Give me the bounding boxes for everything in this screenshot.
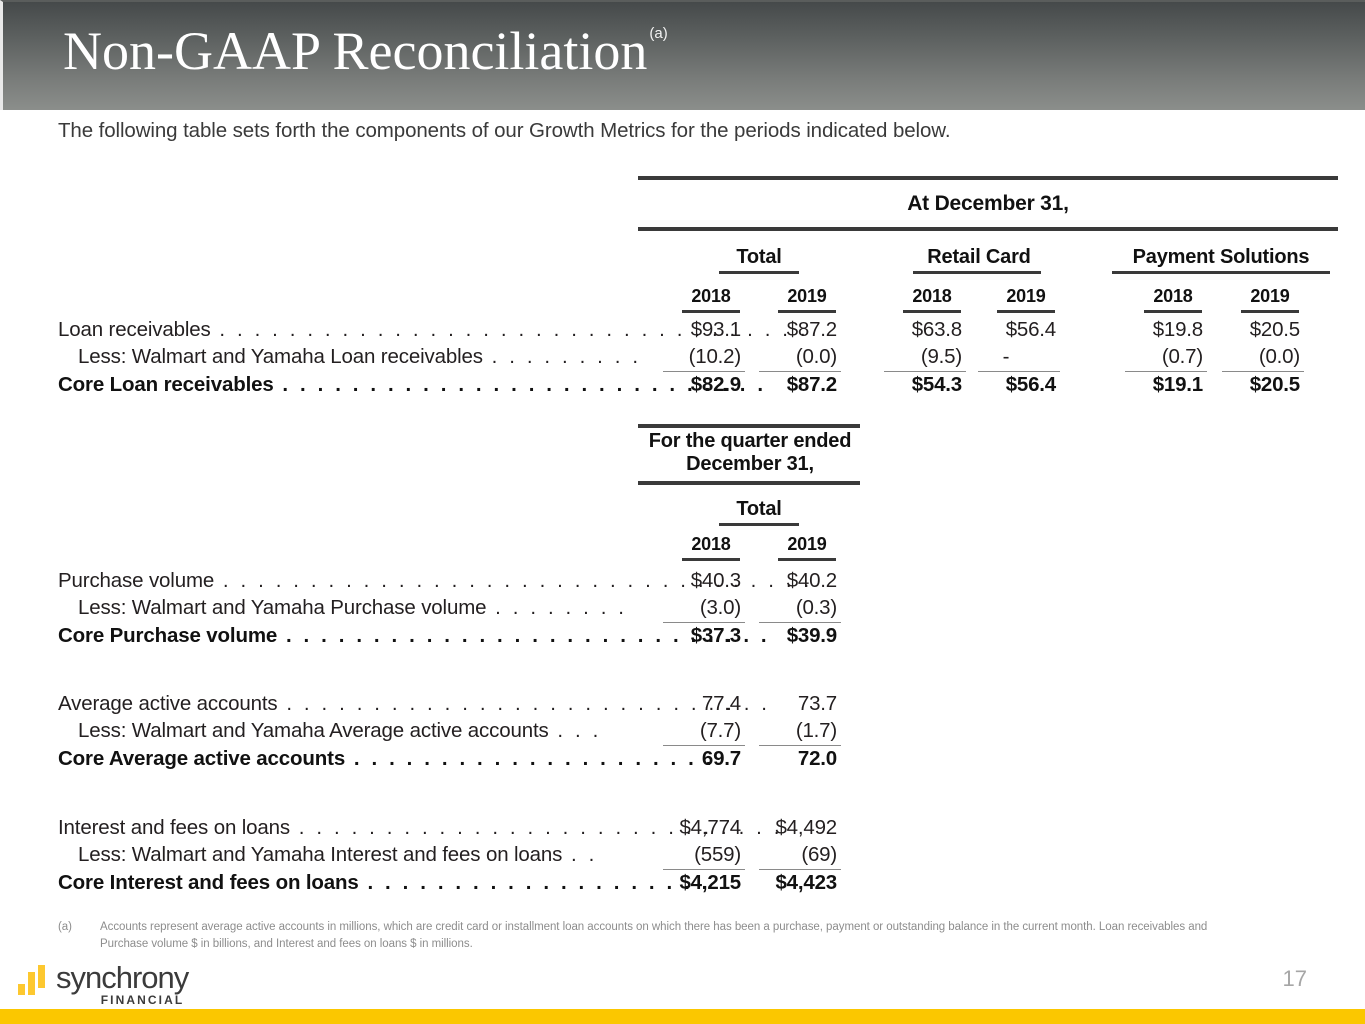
table1-cell-r1-c2: (9.5) bbox=[862, 345, 962, 369]
table1-cell-r2-c4: $19.1 bbox=[1103, 373, 1203, 397]
table2-cell-s0-r1-c1: (0.3) bbox=[737, 596, 837, 620]
table2-row-label-less-walmart-yamaha-interest-and-fees-on-loans: Less: Walmart and Yamaha Interest and fe… bbox=[58, 843, 597, 867]
logo-bar-tall bbox=[38, 965, 45, 988]
table2-cell-s1-r0-c0: 77.4 bbox=[641, 692, 741, 716]
table2-cell-s0-r2-c0: $37.3 bbox=[641, 624, 741, 648]
non-gaap-reconciliation-tables: At December 31, Total Retail Card Paymen… bbox=[0, 0, 1365, 1024]
table1-subtotal-rule-c4 bbox=[1125, 371, 1207, 372]
table2-year-total-2018-underline bbox=[682, 558, 740, 561]
table2-group-total-underline bbox=[719, 523, 799, 526]
table1-cell-r1-c4: (0.7) bbox=[1103, 345, 1203, 369]
table1-cell-r0-c3: $56.4 bbox=[956, 318, 1056, 342]
table2-cell-s2-r0-c1: $4,492 bbox=[737, 816, 837, 840]
synchrony-financial-logo: synchrony FINANCIAL bbox=[18, 962, 188, 1006]
table1-period-rule bbox=[638, 227, 1338, 231]
table2-row-label-less-walmart-yamaha-average-active-accounts: Less: Walmart and Yamaha Average active … bbox=[58, 719, 601, 743]
table2-cell-s2-r1-c0: (559) bbox=[641, 843, 741, 867]
table1-cell-r1-c0: (10.2) bbox=[641, 345, 741, 369]
dot-leader: . . . bbox=[549, 719, 602, 742]
table2-year-total-2019: 2019 bbox=[757, 534, 857, 555]
table1-year-payment-2019-underline bbox=[1241, 310, 1299, 313]
table1-year-total-2019: 2019 bbox=[757, 286, 857, 307]
table2-group-total: Total bbox=[664, 498, 854, 521]
table1-year-payment-2019: 2019 bbox=[1220, 286, 1320, 307]
table2-cell-s0-r0-c0: $40.3 bbox=[641, 569, 741, 593]
table1-period-header: At December 31, bbox=[638, 192, 1338, 216]
table2-row-label-core-interest-and-fees-on-loans: Core Interest and fees on loans . . . . … bbox=[58, 871, 710, 895]
table1-year-payment-2018: 2018 bbox=[1123, 286, 1223, 307]
dot-leader: . . . . . . . . bbox=[486, 596, 627, 619]
table2-row-label-core-average-active-accounts: Core Average active accounts . . . . . .… bbox=[58, 747, 715, 771]
logo-bar-short bbox=[18, 984, 25, 995]
table1-cell-r1-c3: - bbox=[956, 345, 1056, 369]
table1-cell-r1-c1: (0.0) bbox=[737, 345, 837, 369]
table1-cell-r2-c3: $56.4 bbox=[956, 373, 1056, 397]
table2-cell-s2-r2-c1: $4,423 bbox=[737, 871, 837, 895]
logo-wordmark: synchrony bbox=[56, 962, 188, 993]
table2-cell-s1-r1-c0: (7.7) bbox=[641, 719, 741, 743]
table1-cell-r0-c0: $93.1 bbox=[641, 318, 741, 342]
table1-group-total-underline bbox=[719, 271, 799, 274]
dot-leader: . . bbox=[562, 843, 597, 866]
table2-subtotal-rule-s1-c1 bbox=[759, 745, 841, 746]
table2-subtotal-rule-s0-c0 bbox=[663, 622, 745, 623]
table1-group-total: Total bbox=[664, 246, 854, 269]
table2-subtotal-rule-s2-c1 bbox=[759, 869, 841, 870]
footer-accent-bar bbox=[0, 1009, 1365, 1024]
table2-cell-s1-r1-c1: (1.7) bbox=[737, 719, 837, 743]
table1-cell-r0-c2: $63.8 bbox=[862, 318, 962, 342]
table2-subtotal-rule-s0-c1 bbox=[759, 622, 841, 623]
synchrony-bars-icon bbox=[18, 965, 52, 995]
table1-cell-r0-c1: $87.2 bbox=[737, 318, 837, 342]
table1-year-total-2018-underline bbox=[682, 310, 740, 313]
table2-cell-s0-r0-c1: $40.2 bbox=[737, 569, 837, 593]
table1-cell-r2-c0: $82.9 bbox=[641, 373, 741, 397]
table2-year-total-2018: 2018 bbox=[661, 534, 761, 555]
table1-subtotal-rule-c5 bbox=[1222, 371, 1304, 372]
logo-subtitle: FINANCIAL bbox=[56, 994, 184, 1006]
table1-cell-r2-c5: $20.5 bbox=[1200, 373, 1300, 397]
table2-cell-s1-r0-c1: 73.7 bbox=[737, 692, 837, 716]
table1-year-total-2018: 2018 bbox=[661, 286, 761, 307]
table1-cell-r0-c5: $20.5 bbox=[1200, 318, 1300, 342]
table1-group-payment-solutions: Payment Solutions bbox=[1126, 246, 1316, 269]
table1-year-retail-2018-underline bbox=[903, 310, 961, 313]
table2-period-rule bbox=[638, 481, 860, 485]
logo-text: synchrony FINANCIAL bbox=[56, 962, 188, 1006]
logo-bar-medium bbox=[28, 972, 35, 995]
table2-top-rule bbox=[638, 424, 860, 428]
table2-cell-s1-r2-c1: 72.0 bbox=[737, 747, 837, 771]
table2-period-header-line2: December 31, bbox=[620, 453, 880, 476]
table1-subtotal-rule-c3 bbox=[978, 371, 1060, 372]
table1-group-retail-card-underline bbox=[913, 271, 1041, 274]
table2-cell-s2-r1-c1: (69) bbox=[737, 843, 837, 867]
table1-year-total-2019-underline bbox=[778, 310, 836, 313]
table1-top-rule bbox=[638, 176, 1338, 180]
table2-row-label-less-walmart-yamaha-purchase-volume: Less: Walmart and Yamaha Purchase volume… bbox=[58, 596, 627, 620]
table1-cell-r0-c4: $19.8 bbox=[1103, 318, 1203, 342]
table2-cell-s0-r2-c1: $39.9 bbox=[737, 624, 837, 648]
table1-cell-r2-c1: $87.2 bbox=[737, 373, 837, 397]
table1-subtotal-rule-c2 bbox=[884, 371, 966, 372]
table1-group-retail-card: Retail Card bbox=[884, 246, 1074, 269]
table1-cell-r1-c5: (0.0) bbox=[1200, 345, 1300, 369]
table1-year-retail-2019-underline bbox=[997, 310, 1055, 313]
table1-year-retail-2019: 2019 bbox=[976, 286, 1076, 307]
table2-year-total-2019-underline bbox=[778, 558, 836, 561]
table1-row-label-less-walmart-yamaha-loan-receivables: Less: Walmart and Yamaha Loan receivable… bbox=[58, 345, 641, 369]
footnote: (a) Accounts represent average active ac… bbox=[58, 919, 1238, 952]
table1-year-retail-2018: 2018 bbox=[882, 286, 982, 307]
table1-subtotal-rule-c1 bbox=[759, 371, 841, 372]
table2-cell-s2-r2-c0: $4,215 bbox=[641, 871, 741, 895]
table2-cell-s0-r1-c0: (3.0) bbox=[641, 596, 741, 620]
table2-cell-s1-r2-c0: 69.7 bbox=[641, 747, 741, 771]
dot-leader: . . . . . . . . . bbox=[483, 345, 641, 368]
table1-cell-r2-c2: $54.3 bbox=[862, 373, 962, 397]
page-number: 17 bbox=[1283, 966, 1307, 992]
table2-period-header-line1: For the quarter ended bbox=[620, 430, 880, 453]
table1-group-payment-solutions-underline bbox=[1112, 271, 1330, 274]
table1-year-payment-2018-underline bbox=[1144, 310, 1202, 313]
footnote-marker: (a) bbox=[58, 919, 72, 936]
table2-subtotal-rule-s1-c0 bbox=[663, 745, 745, 746]
table1-subtotal-rule-c0 bbox=[663, 371, 745, 372]
table2-subtotal-rule-s2-c0 bbox=[663, 869, 745, 870]
table2-cell-s2-r0-c0: $4,774 bbox=[641, 816, 741, 840]
footnote-text: Accounts represent average active accoun… bbox=[100, 919, 1238, 952]
